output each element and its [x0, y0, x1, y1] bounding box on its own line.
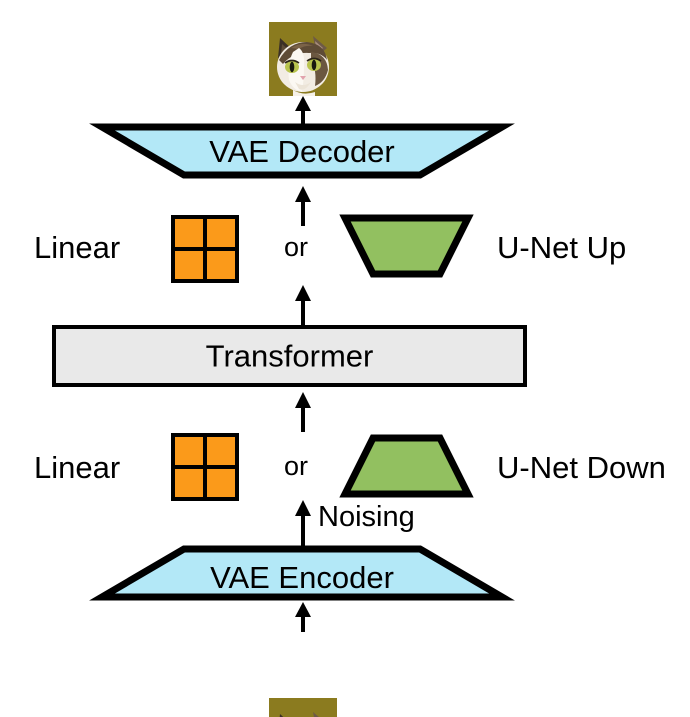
unet-up-node[interactable] — [340, 213, 473, 279]
vae-decoder-label: VAE Decoder — [98, 136, 506, 167]
unet-up-shape — [340, 213, 473, 279]
linear-grid-up[interactable] — [171, 215, 239, 283]
arrow-encoder-to-down-row — [292, 500, 314, 548]
transformer-label: Transformer — [56, 341, 523, 372]
unet-up-label: U-Net Up — [497, 232, 626, 263]
unet-down-label: U-Net Down — [497, 452, 666, 483]
arrow-down-row-to-transformer — [292, 392, 314, 432]
grid-cell — [207, 251, 235, 279]
or-label-up: or — [284, 234, 308, 261]
cat-photo-output-art — [269, 22, 337, 96]
unet-down-node[interactable] — [340, 433, 473, 499]
cat-photo-output — [269, 22, 337, 96]
arrow-input-to-encoder — [292, 602, 314, 632]
vae-encoder-label: VAE Encoder — [98, 562, 506, 593]
cat-photo-input-art — [269, 698, 337, 717]
unet-down-shape — [340, 433, 473, 499]
arrow-transformer-to-up-row — [292, 285, 314, 325]
transformer-node[interactable]: Transformer — [52, 325, 527, 387]
grid-cell — [175, 219, 203, 247]
vae-decoder-node[interactable]: VAE Decoder — [98, 122, 506, 180]
linear-grid-down[interactable] — [171, 433, 239, 501]
grid-cell — [207, 219, 235, 247]
grid-cell — [175, 469, 203, 497]
grid-cell — [175, 437, 203, 465]
linear-label-down: Linear — [34, 452, 120, 483]
cat-photo-input — [269, 698, 337, 717]
latent-diffusion-diagram: VAE Decoder Linear or U-Net Up Transform… — [0, 0, 690, 717]
grid-cell — [207, 469, 235, 497]
noising-label: Noising — [318, 503, 415, 532]
grid-cell — [207, 437, 235, 465]
grid-cell — [175, 251, 203, 279]
linear-label-up: Linear — [34, 232, 120, 263]
vae-encoder-node[interactable]: VAE Encoder — [98, 544, 506, 602]
or-label-down: or — [284, 453, 308, 480]
arrow-up-row-to-decoder — [292, 186, 314, 226]
